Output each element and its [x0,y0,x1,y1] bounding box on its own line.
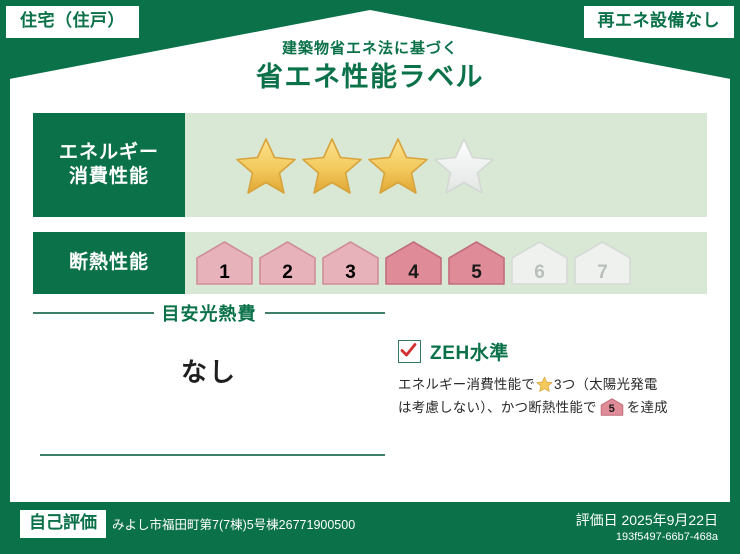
insulation-level-house: 4 [384,240,443,286]
insulation-level-number: 7 [573,263,632,282]
zeh-desc-part3: を達成 [627,400,668,415]
energy-header-line2: 消費性能 [69,166,149,187]
evaluation-date: 評価日 2025年9月22日 [576,510,718,530]
title-block: 建築物省エネ法に基づく 省エネ性能ラベル [0,40,740,93]
utility-cost-value: なし [33,352,385,389]
insulation-level-number: 1 [195,263,254,282]
insulation-level-house: 3 [321,240,380,286]
renewable-equipment-tag: 再エネ設備なし [584,6,735,38]
insulation-level-number: 3 [321,263,380,282]
energy-performance-body [185,113,707,217]
building-type-tag: 住宅（住戸） [6,6,139,38]
inline-house-badge: 5 [600,398,624,416]
insulation-level-number: 4 [384,263,443,282]
insulation-level-number: 2 [258,263,317,282]
inline-house-number: 5 [600,404,624,415]
title-subtitle: 建築物省エネ法に基づく [0,40,740,58]
insulation-level-house: 2 [258,240,317,286]
energy-performance-label-text: エネルギー 消費性能 [59,141,159,190]
insulation-performance-header: 断熱性能 [33,232,185,294]
utility-cost-header: 目安光熱費 [33,300,385,326]
insulation-level-number: 6 [510,263,569,282]
star-filled-icon [367,135,429,195]
zeh-desc-part2: は考慮しない）、かつ断熱性能で [398,400,597,415]
evaluation-type-tag: 自己評価 [20,510,106,538]
insulation-level-house: 6 [510,240,569,286]
label-footer: 自己評価 みよし市福田町第7(7棟)5号棟26771900500 評価日 202… [0,502,740,554]
insulation-performance-row: 断熱性能 1 2 [33,232,707,294]
insulation-level-number: 5 [447,263,506,282]
utility-cost-title: 目安光熱費 [162,300,257,326]
zeh-header: ZEH水準 [398,338,708,365]
insulation-level-house: 7 [573,240,632,286]
zeh-checkbox[interactable] [398,340,421,363]
insulation-level-house: 1 [195,240,254,286]
evaluation-id: 193f5497-66b7-468a [616,531,718,543]
property-address: みよし市福田町第7(7棟)5号棟26771900500 [112,518,355,533]
star-filled-icon [235,135,297,195]
zeh-desc-part1: エネルギー消費性能で [398,377,535,392]
title-main: 省エネ性能ラベル [0,61,740,93]
energy-performance-row: エネルギー 消費性能 [33,113,707,217]
insulation-level-scale: 1 2 3 4 [195,240,632,286]
zeh-panel: ZEH水準 エネルギー消費性能で3つ（太陽光発電 は考慮しない）、かつ断熱性能で… [398,338,708,420]
energy-performance-header: エネルギー 消費性能 [33,113,185,217]
star-rating [235,135,495,195]
check-icon [400,342,417,359]
insulation-performance-body: 1 2 3 4 [185,232,707,294]
energy-header-line1: エネルギー [59,142,159,163]
star-filled-icon [301,135,363,195]
insulation-level-house: 5 [447,240,506,286]
star-empty-icon [433,135,495,195]
zeh-title: ZEH水準 [430,338,509,365]
zeh-description: エネルギー消費性能で3つ（太陽光発電 は考慮しない）、かつ断熱性能で5を達成 [398,374,708,420]
divider-left [33,312,154,314]
star-filled-icon [536,376,553,392]
divider-right [265,312,386,314]
utility-cost-bottom-rule [40,454,385,456]
zeh-desc-star-count: 3つ（太陽光発電 [554,377,658,392]
energy-performance-label: 住宅（住戸） 再エネ設備なし 建築物省エネ法に基づく 省エネ性能ラベル エネルギ… [0,0,740,554]
